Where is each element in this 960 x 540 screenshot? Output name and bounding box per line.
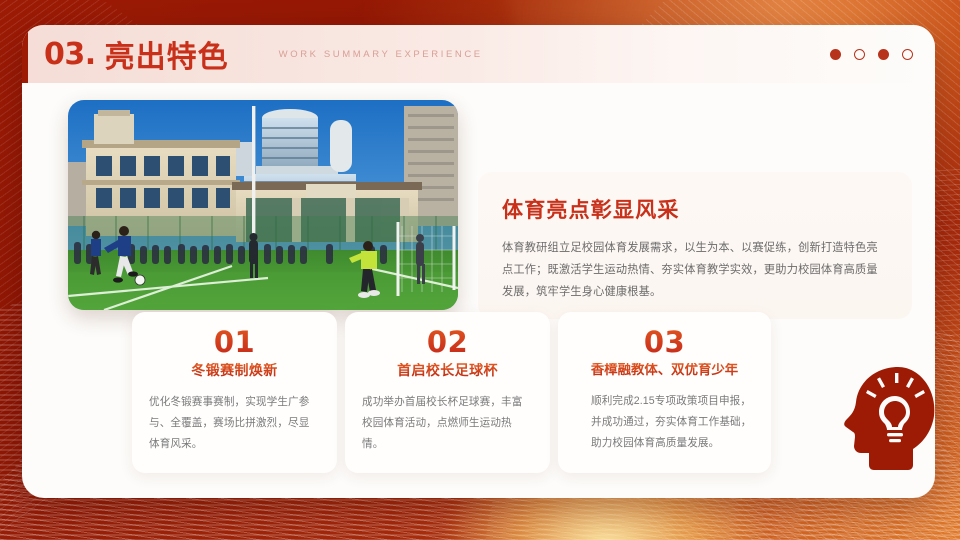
head-lightbulb-idea-icon xyxy=(840,363,935,475)
feature-card-title: 香樟融教体、双优育少年 xyxy=(575,363,754,380)
pager-dot-1[interactable] xyxy=(830,49,841,60)
feature-card-body: 顺利完成2.15专项政策项目申报，并成功通过，夯实体育工作基础，助力校园体育高质… xyxy=(575,391,754,455)
intro-heading: 体育亮点彰显风采 xyxy=(502,194,888,224)
header-subtitle: WORK SUMMARY EXPERIENCE xyxy=(279,49,483,60)
header-accent-bar xyxy=(22,25,28,83)
pager-dot-3[interactable] xyxy=(878,49,889,60)
section-number: 03. xyxy=(44,37,96,72)
feature-card-02[interactable]: 02 首启校长足球杯 成功举办首届校长杯足球赛，丰富校园体育活动，点燃师生运动热… xyxy=(345,312,550,473)
intro-paragraph: 体育教研组立足校园体育发展需求，以生为本、以赛促练，创新打造特色亮点工作；既激活… xyxy=(502,238,888,304)
feature-card-01[interactable]: 01 冬锻赛制焕新 优化冬锻赛事赛制，实现学生广参与、全覆盖，赛场比拼激烈，尽显… xyxy=(132,312,337,473)
slide-header: 03. 亮出特色 WORK SUMMARY EXPERIENCE xyxy=(22,25,935,83)
feature-card-03[interactable]: 03 香樟融教体、双优育少年 顺利完成2.15专项政策项目申报，并成功通过，夯实… xyxy=(558,312,771,473)
pager-dot-2[interactable] xyxy=(854,49,865,60)
intro-card: 体育亮点彰显风采 体育教研组立足校园体育发展需求，以生为本、以赛促练，创新打造特… xyxy=(478,172,912,319)
slide-card: 03. 亮出特色 WORK SUMMARY EXPERIENCE xyxy=(22,25,935,498)
photo-soccer-match xyxy=(68,100,458,310)
feature-card-number: 01 xyxy=(149,327,320,358)
feature-card-number: 03 xyxy=(575,327,754,358)
feature-card-title: 冬锻赛制焕新 xyxy=(149,363,320,381)
pager-dot-4[interactable] xyxy=(902,49,913,60)
feature-card-title: 首启校长足球杯 xyxy=(362,363,533,381)
page-title: 亮出特色 xyxy=(105,32,229,76)
feature-card-number: 02 xyxy=(362,327,533,358)
feature-card-body: 优化冬锻赛事赛制，实现学生广参与、全覆盖，赛场比拼激烈，尽显体育风采。 xyxy=(149,392,320,456)
pager-dots xyxy=(830,49,913,60)
feature-card-list: 01 冬锻赛制焕新 优化冬锻赛事赛制，实现学生广参与、全覆盖，赛场比拼激烈，尽显… xyxy=(132,312,771,473)
feature-card-body: 成功举办首届校长杯足球赛，丰富校园体育活动，点燃师生运动热情。 xyxy=(362,392,533,456)
